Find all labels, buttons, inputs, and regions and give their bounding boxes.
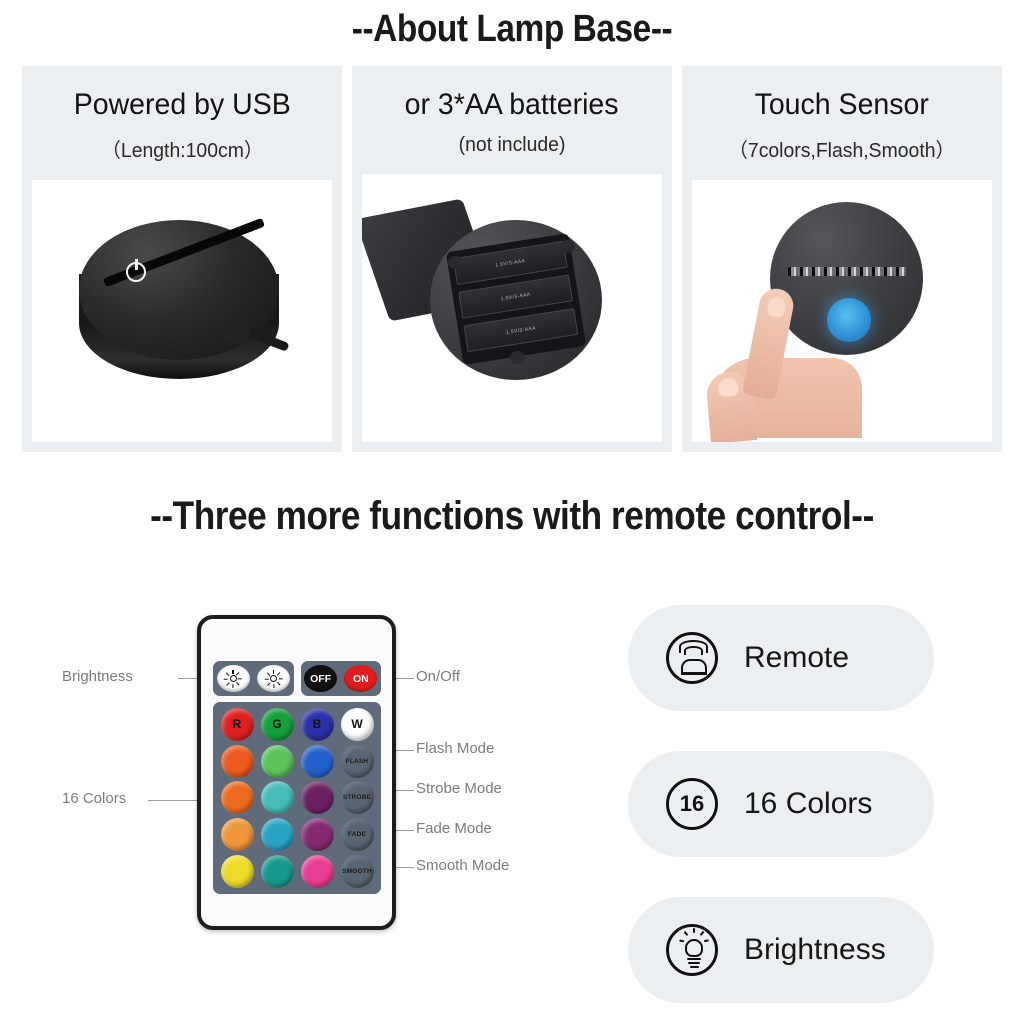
thumb-nail [718, 377, 739, 397]
panel-subtitle: （7colors,Flash,Smooth） [729, 134, 955, 163]
callout-smooth-mode: Smooth Mode [416, 857, 509, 874]
color-button-orange[interactable] [221, 781, 254, 814]
touch-sensor-button [827, 298, 871, 342]
color-button-green[interactable]: G [261, 708, 294, 741]
page-title-lamp-base: --About Lamp Base-- [61, 8, 962, 51]
remote-icon [666, 632, 718, 684]
panel-touch-sensor: Touch Sensor （7colors,Flash,Smooth） [682, 66, 1002, 452]
lamp-base-panels: Powered by USB （Length:100cm） or 3*AA ba… [22, 66, 1002, 452]
remote-control[interactable]: OFF ON R G B W FLASH STROBE [197, 615, 396, 930]
power-symbol-icon [126, 262, 146, 282]
remote-color-grid: R G B W FLASH STROBE FADE [213, 702, 381, 894]
feature-card-remote[interactable]: Remote [628, 605, 934, 711]
feature-card-brightness[interactable]: Brightness [628, 897, 934, 1003]
color-button-turquoise[interactable] [261, 781, 294, 814]
color-button-yellow[interactable] [221, 855, 254, 888]
brightness-button-group [213, 661, 294, 696]
product-infographic: --About Lamp Base-- Powered by USB （Leng… [0, 0, 1024, 1024]
led-strip [788, 267, 906, 276]
smooth-mode-button[interactable]: SMOOTH [341, 855, 374, 888]
fade-mode-button[interactable]: FADE [341, 818, 374, 851]
brightness-up-button[interactable] [257, 665, 290, 692]
panel-heading: Touch Sensor [755, 88, 929, 122]
color-button-royal-blue[interactable] [301, 745, 334, 778]
color-button-red[interactable]: R [221, 708, 254, 741]
flash-mode-button[interactable]: FLASH [341, 745, 374, 778]
strobe-mode-button[interactable]: STROBE [341, 781, 374, 814]
brightness-down-button[interactable] [217, 665, 250, 692]
color-button-blue[interactable]: B [301, 708, 334, 741]
color-button-teal[interactable] [261, 855, 294, 888]
sun-small-icon [225, 671, 241, 687]
panel-heading: Powered by USB [73, 88, 290, 122]
feature-label: 16 Colors [744, 787, 872, 821]
panel-subtitle: (not include) [459, 134, 566, 157]
panel-aa-batteries: or 3*AA batteries (not include) 1.5V/3-A… [352, 66, 672, 452]
feature-label: Remote [744, 641, 849, 675]
panel-heading: or 3*AA batteries [405, 88, 619, 122]
sun-large-icon [265, 671, 281, 687]
power-on-button[interactable]: ON [344, 665, 377, 692]
rubber-foot [510, 351, 525, 364]
callout-flash-mode: Flash Mode [416, 740, 494, 757]
brightness-icon [666, 924, 718, 976]
color-button-amber[interactable] [221, 818, 254, 851]
lamp-base-battery-photo: 1.5V/3-AAA 1.5V/3-AAA 1.5V/3-AAA [362, 174, 662, 442]
color-button-cyan[interactable] [261, 818, 294, 851]
callout-fade-mode: Fade Mode [416, 820, 492, 837]
color-button-orange-red[interactable] [221, 745, 254, 778]
power-button-group: OFF ON [301, 661, 382, 696]
lamp-base-top-disc [770, 202, 923, 355]
color-button-pink[interactable] [301, 855, 334, 888]
rubber-foot [560, 240, 575, 253]
hand-illustration [712, 358, 862, 438]
power-off-button[interactable]: OFF [304, 665, 337, 692]
feature-card-list: Remote 16 16 Colors Brightnes [628, 605, 934, 1024]
remote-control-section: Brightness 16 Colors On/Off Flash Mode S… [0, 560, 1024, 1024]
panel-subtitle: （Length:100cm） [101, 134, 263, 163]
color-button-white[interactable]: W [341, 708, 374, 741]
color-button-light-green[interactable] [261, 745, 294, 778]
callout-on-off: On/Off [416, 668, 460, 685]
callout-strobe-mode: Strobe Mode [416, 780, 502, 797]
remote-top-button-row: OFF ON [213, 661, 381, 696]
rubber-foot [448, 256, 463, 269]
panel-powered-by-usb: Powered by USB （Length:100cm） [22, 66, 342, 452]
callout-brightness: Brightness [62, 668, 133, 685]
feature-label: Brightness [744, 933, 886, 967]
page-title-remote-functions: --Three more functions with remote contr… [61, 494, 962, 539]
sixteen-icon: 16 [666, 778, 718, 830]
finger-nail [766, 295, 787, 318]
feature-card-16-colors[interactable]: 16 16 Colors [628, 751, 934, 857]
color-button-purple[interactable] [301, 818, 334, 851]
lamp-base-touch-photo [692, 180, 992, 442]
callout-16-colors: 16 Colors [62, 790, 126, 807]
color-button-plum[interactable] [301, 781, 334, 814]
lamp-base-usb-photo [32, 180, 332, 442]
lamp-base-top-disc [79, 220, 279, 360]
